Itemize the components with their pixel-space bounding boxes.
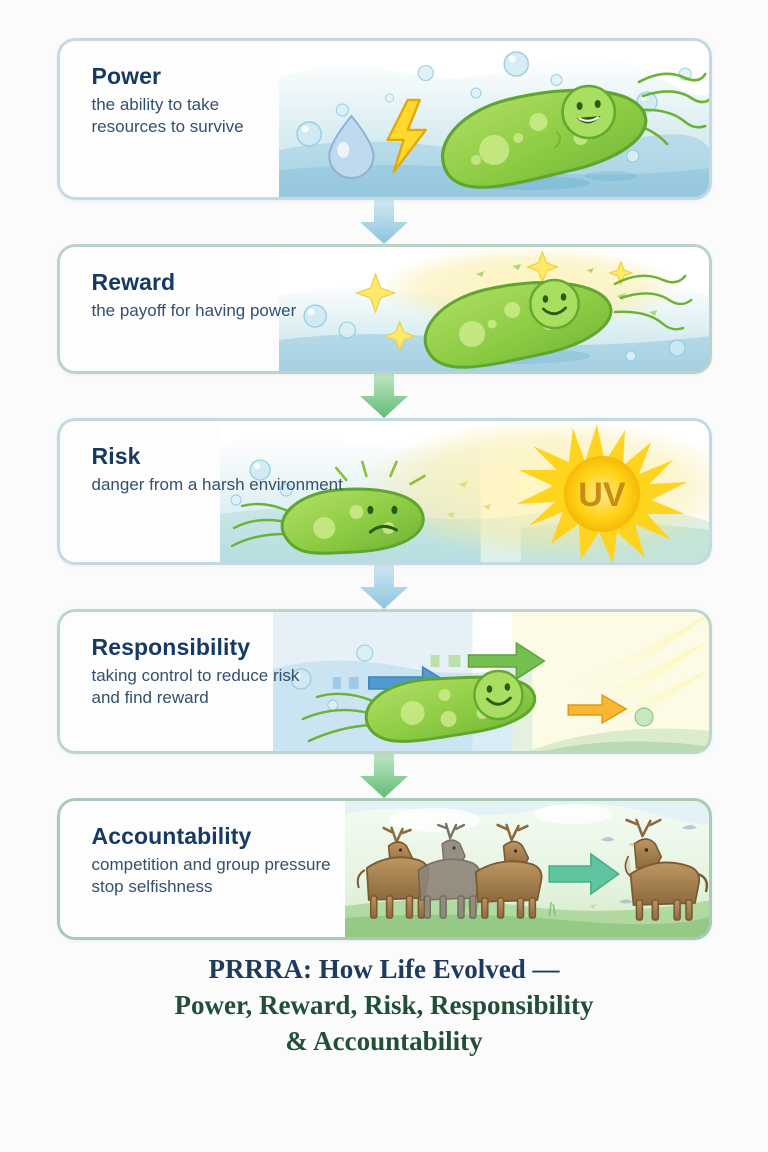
arrow-reward-to-risk-wrap — [57, 374, 712, 418]
arrow-risk-to-responsibility — [356, 565, 412, 609]
infographic-board: Power the ability to take resources to s… — [0, 0, 768, 1152]
panel-title: Responsibility — [92, 635, 522, 661]
panel-description: taking control to reduce risk and find r… — [92, 665, 522, 709]
panel-power: Power the ability to take resources to s… — [57, 38, 712, 200]
panel-reward: Reward the payoff for having power — [57, 244, 712, 374]
panel-title: Reward — [92, 270, 522, 296]
panel-accountability: Accountability competition and group pre… — [57, 798, 712, 940]
panel-risk: UV — [57, 418, 712, 565]
panel-description: competition and group pressure stop self… — [92, 854, 522, 898]
panel-title: Accountability — [92, 824, 522, 850]
panel-description: the ability to take resources to survive — [92, 94, 522, 138]
panel-text-risk: Risk danger from a harsh environment — [57, 418, 472, 496]
uv-label: UV — [579, 476, 627, 514]
caption-line-1: PRRRA: How Life Evolved — — [57, 952, 712, 988]
arrow-reward-to-risk — [356, 374, 412, 418]
panel-text-responsibility: Responsibility taking control to reduce … — [57, 609, 522, 708]
caption-line-2: Power, Reward, Risk, Responsibility — [57, 988, 712, 1024]
caption-line-3: & Accountability — [57, 1024, 712, 1060]
panel-responsibility: Responsibility taking control to reduce … — [57, 609, 712, 754]
panel-title: Risk — [92, 444, 472, 470]
panel-text-reward: Reward the payoff for having power — [57, 244, 522, 322]
arrow-responsibility-to-accountability — [356, 754, 412, 798]
panel-title: Power — [92, 64, 522, 90]
panel-text-accountability: Accountability competition and group pre… — [57, 798, 522, 897]
arrow-power-to-reward — [356, 200, 412, 244]
infographic-caption: PRRRA: How Life Evolved — Power, Reward,… — [57, 952, 712, 1060]
arrow-risk-to-responsibility-wrap — [57, 565, 712, 609]
arrow-responsibility-to-accountability-wrap — [57, 754, 712, 798]
panel-description: danger from a harsh environment — [92, 474, 472, 496]
panel-text-power: Power the ability to take resources to s… — [57, 38, 522, 137]
arrow-power-to-reward-wrap — [57, 200, 712, 244]
panel-description: the payoff for having power — [92, 300, 522, 322]
